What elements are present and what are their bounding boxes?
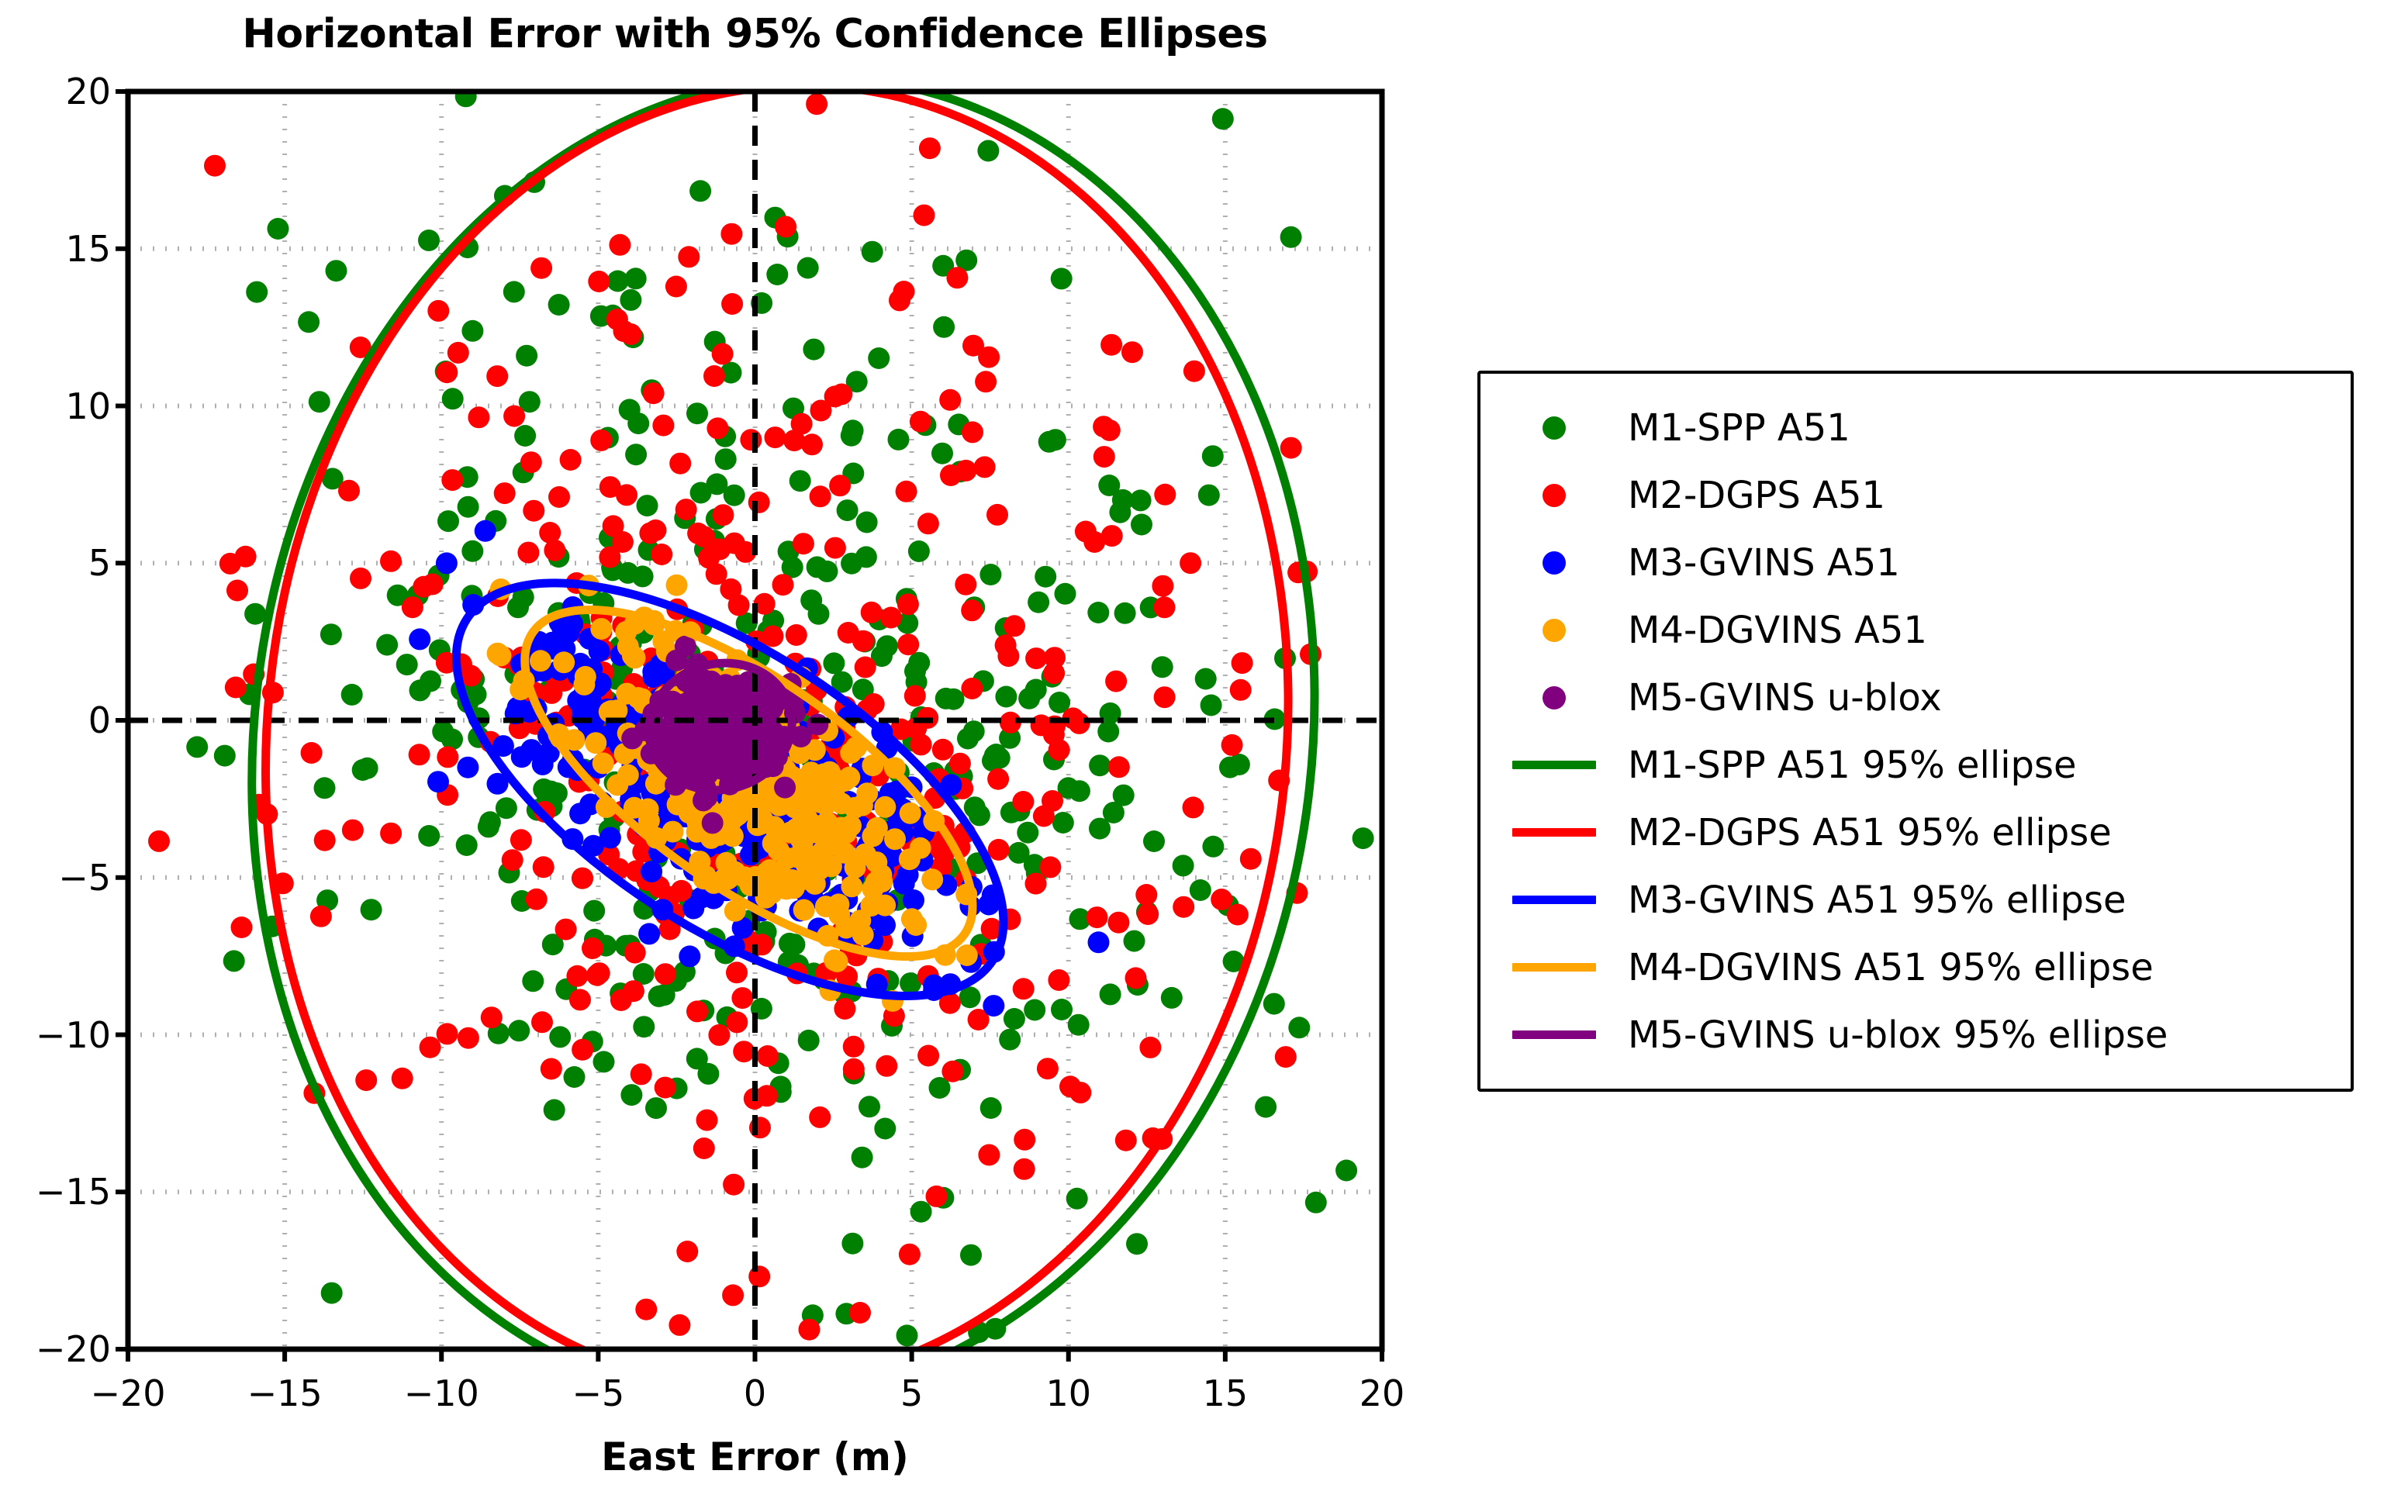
scatter-point [808,603,830,625]
scatter-point [625,444,647,465]
scatter-point [569,989,591,1010]
scatter-point [689,747,711,769]
scatter-point [1202,836,1224,858]
scatter-point [436,361,458,383]
scatter-point [897,593,919,615]
scatter-point [530,257,552,279]
scatter-point [320,623,342,645]
marker-swatch [1543,484,1566,507]
scatter-point [392,1068,413,1089]
scatter-point [1288,1017,1310,1038]
scatter-point [880,607,902,629]
scatter-point [1221,734,1243,756]
scatter-point [859,1096,880,1117]
scatter-point [582,937,603,959]
scatter-point [917,513,939,534]
scatter-point [1108,756,1130,778]
legend-item-label: M1-SPP A51 [1628,409,1850,447]
scatter-point [1083,531,1105,553]
scatter-point [380,551,402,572]
scatter-point [1107,912,1129,934]
scatter-point [728,595,750,616]
scatter-point [1013,978,1035,999]
scatter-point [1183,796,1204,818]
scatter-point [709,539,731,561]
scatter-point [1052,812,1074,834]
legend-item[interactable]: M4-DGVINS A51 95% ellipse [1480,934,2351,1001]
scatter-point [645,1097,667,1119]
scatter-point [794,783,816,805]
scatter-point [1353,827,1374,849]
scatter-point [321,1282,343,1304]
scatter-point [1152,575,1173,597]
scatter-point [926,1186,948,1207]
scatter-point [396,654,418,675]
scatter-point [835,917,857,939]
scatter-point [632,565,654,587]
scatter-point [975,371,997,392]
scatter-point [995,686,1017,708]
scatter-point [486,365,508,387]
scatter-point [834,770,855,792]
scatter-point [1018,688,1040,709]
scatter-point [494,482,516,504]
scatter-point [807,556,828,578]
scatter-point [1051,268,1073,289]
scatter-point [810,485,831,507]
y-tick-label: 15 [65,228,111,270]
scatter-point [999,1029,1021,1051]
scatter-point [226,580,248,602]
scatter-point [204,155,226,177]
scatter-point [837,499,859,521]
scatter-point [441,469,463,491]
scatter-point [962,421,983,443]
scatter-point [613,320,635,342]
scatter-point [696,1110,718,1131]
legend-line-icon [1480,828,1628,837]
scatter-point [1087,906,1108,928]
scatter-point [1198,485,1220,506]
scatter-point [314,830,336,851]
scatter-point [517,542,539,564]
scatter-point [534,780,556,802]
scatter-point [946,267,968,288]
scatter-point [637,495,658,516]
scatter-point [1240,848,1262,870]
scatter-point [1017,822,1038,844]
scatter-point [896,481,917,502]
scatter-point [1068,1014,1090,1036]
figure-canvas: Horizontal Error with 95% Confidence Ell… [0,0,2408,1512]
scatter-point [893,281,915,302]
scatter-point [1048,969,1069,991]
scatter-point [599,827,621,849]
scatter-point [978,1144,1000,1166]
y-tick-label: −5 [58,857,111,899]
legend-item-label: M5-GVINS u-blox [1628,679,1942,716]
scatter-point [931,443,953,464]
scatter-point [409,744,430,765]
scatter-point [1004,1008,1025,1030]
scatter-point [807,713,828,735]
scatter-point [722,825,744,847]
scatter-point [638,923,660,944]
scatter-point [1121,341,1143,363]
scatter-point [1055,583,1076,605]
scatter-point [496,797,517,819]
scatter-point [1014,1158,1035,1180]
scatter-point [544,1099,565,1121]
scatter-point [840,815,862,837]
scatter-point [583,900,605,922]
scatter-point [1135,884,1157,906]
scatter-point [148,830,170,852]
scatter-point [1212,108,1234,129]
scatter-point [575,666,596,688]
scatter-point [712,343,734,364]
scatter-point [980,1097,1002,1119]
scatter-point [624,942,646,964]
scatter-point [413,576,434,598]
scatter-point [933,316,955,338]
scatter-point [560,449,582,471]
scatter-point [841,1233,863,1255]
scatter-point [437,746,458,768]
y-tick-label: −20 [36,1328,111,1370]
scatter-point [863,693,885,715]
scatter-point [1255,1096,1277,1118]
scatter-point [899,848,921,870]
scatter-point [644,520,666,541]
scatter-point [740,429,762,450]
scatter-point [523,500,544,522]
scatter-point [1227,904,1249,926]
legend-item[interactable]: M1-SPP A51 95% ellipse [1480,731,2351,799]
line-swatch [1512,761,1596,769]
scatter-point [651,544,672,565]
scatter-point [458,496,479,518]
scatter-point [635,1299,657,1320]
scatter-point [679,945,700,967]
scatter-point [716,852,738,874]
scatter-point [620,289,641,311]
scatter-point [939,389,961,411]
scatter-point [1139,1037,1161,1058]
scatter-point [977,140,999,162]
scatter-point [231,917,253,938]
scatter-point [874,1118,896,1140]
scatter-point [1143,830,1165,852]
scatter-point [956,944,978,966]
scatter-point [974,456,996,478]
scatter-point [1275,1046,1297,1068]
scatter-point [380,823,402,844]
scatter-point [555,919,577,941]
scatter-point [901,908,923,930]
scatter-point [961,678,983,699]
scatter-point [1033,806,1055,827]
x-tick-label: 0 [744,1372,766,1414]
scatter-point [797,845,819,867]
scatter-point [1124,930,1145,952]
scatter-point [520,451,542,473]
scatter-point [726,1011,748,1033]
scatter-point [1202,445,1224,467]
scatter-point [1280,437,1302,459]
scatter-point [461,320,483,342]
scatter-point [841,553,862,575]
scatter-point [868,347,890,369]
scatter-point [823,652,845,674]
scatter-point [437,1023,458,1044]
scatter-point [852,1147,873,1169]
scatter-point [841,425,862,447]
scatter-point [516,345,537,367]
scatter-point [643,382,665,404]
scatter-point [1180,552,1201,574]
scatter-point [341,684,363,706]
line-swatch [1512,963,1596,972]
line-swatch [1512,1030,1596,1039]
scatter-point [689,180,711,202]
scatter-point [314,777,336,799]
scatter-point [698,692,720,714]
scatter-point [1263,993,1285,1015]
scatter-point [1105,671,1127,692]
scatter-point [766,264,788,285]
scatter-point [1173,896,1194,918]
scatter-point [214,745,236,767]
scatter-point [355,1069,377,1091]
scatter-point [986,504,1008,526]
scatter-point [652,415,674,437]
line-swatch [1512,828,1596,837]
legend-marker-icon [1480,619,1628,642]
scatter-point [420,1037,441,1058]
scatter-point [590,618,612,640]
scatter-point [531,1011,553,1033]
scatter-point [468,406,489,428]
scatter-point [599,547,620,568]
y-tick-label: 0 [88,699,111,741]
scatter-point [669,453,691,475]
scatter-point [1004,615,1025,637]
scatter-point [786,624,807,646]
scatter-point [809,1106,831,1128]
scatter-point [690,482,712,504]
scatter-point [731,987,753,1009]
scatter-point [910,1201,932,1223]
x-axis-title: East Error (m) [128,1434,1382,1479]
scatter-point [522,970,544,992]
scatter-point [1335,1160,1357,1182]
scatter-point [244,603,266,625]
scatter-point [904,661,926,682]
scatter-point [1154,484,1176,506]
scatter-point [865,851,887,873]
scatter-point [1051,999,1073,1020]
scatter-point [988,839,1010,861]
scatter-point [919,137,941,159]
scatter-point [1069,1082,1091,1103]
scatter-point [1066,1188,1088,1210]
scatter-point [740,844,762,866]
scatter-point [599,476,621,498]
scatter-point [655,963,676,985]
scatter-point [987,768,1009,790]
legend-item[interactable]: M2-DGPS A51 95% ellipse [1480,799,2351,866]
scatter-point [997,645,1019,667]
scatter-point [569,803,591,824]
scatter-point [910,411,931,433]
scatter-point [943,689,965,710]
scatter-point [350,568,371,589]
scatter-point [409,628,430,650]
scatter-point [856,512,878,533]
scatter-point [669,1314,690,1336]
scatter-point [665,276,687,298]
scatter-point [1039,856,1061,878]
marker-swatch [1543,686,1566,709]
scatter-point [458,1027,479,1049]
scatter-point [502,849,523,871]
scatter-point [548,294,570,316]
scatter-point [841,875,862,897]
scatter-point [1154,686,1176,708]
scatter-point [631,1063,652,1085]
scatter-point [572,868,593,889]
scatter-point [781,869,803,891]
scatter-point [676,1241,698,1262]
scatter-point [1099,419,1121,441]
legend-item-label: M4-DGVINS A51 [1628,612,1927,649]
scatter-point [748,492,770,513]
scatter-point [899,1244,921,1265]
scatter-point [268,218,289,240]
scatter-point [827,951,848,972]
scatter-point [910,734,932,755]
scatter-point [219,553,241,575]
scatter-point [1008,842,1030,864]
scatter-point [418,825,440,847]
legend-item-label: M4-DGVINS A51 95% ellipse [1628,949,2154,986]
scatter-point [1232,652,1253,674]
scatter-point [1014,1129,1035,1151]
scatter-point [572,1039,593,1061]
scatter-point [1012,791,1034,813]
scatter-point [791,413,813,435]
legend-item[interactable]: M3-GVINS A51 95% ellipse [1480,866,2351,934]
scatter-point [852,795,873,816]
scatter-point [588,271,610,292]
scatter-point [620,1084,642,1106]
scatter-point [539,522,561,544]
scatter-point [1152,656,1173,678]
scatter-point [1093,446,1115,468]
legend-item[interactable]: M5-GVINS u-blox 95% ellipse [1480,1001,2351,1068]
scatter-point [884,828,906,850]
scatter-point [503,281,525,302]
legend-item[interactable]: M1-SPP A51 [1480,394,2351,461]
scatter-point [861,602,883,623]
scatter-point [627,413,649,434]
marker-swatch [1543,416,1566,440]
scatter-point [979,564,1001,585]
scatter-point [526,889,548,910]
scatter-point [834,998,855,1020]
legend-item[interactable]: M2-DGPS A51 [1480,461,2351,529]
scatter-point [783,934,805,955]
x-tick-label: −15 [247,1372,323,1414]
scatter-point [712,504,734,526]
x-tick-label: −10 [404,1372,479,1414]
scatter-point [461,540,483,562]
scatter-point [533,856,554,878]
legend-item[interactable]: M3-GVINS A51 [1480,529,2351,596]
scatter-point [1137,903,1159,925]
scatter-point [941,1061,963,1082]
legend-item[interactable]: M5-GVINS u-blox [1480,664,2351,731]
scatter-point [921,868,943,890]
chart-legend[interactable]: M1-SPP A51M2-DGPS A51M3-GVINS A51M4-DGVI… [1477,371,2354,1092]
scatter-point [671,880,693,902]
scatter-point [693,1137,715,1159]
scatter-point [1211,889,1232,910]
scatter-point [1280,226,1302,248]
scatter-point [309,391,330,413]
scatter-point [457,757,478,778]
scatter-point [607,271,629,292]
scatter-point [862,878,884,899]
scatter-point [310,906,332,927]
scatter-point [530,650,551,671]
scatter-point [633,1016,655,1037]
scatter-point [983,995,1004,1017]
scatter-point [1043,662,1065,684]
scatter-point [186,736,208,758]
legend-item-label: M3-GVINS A51 [1628,544,1900,582]
scatter-point [548,486,570,508]
scatter-point [622,645,644,667]
legend-item[interactable]: M4-DGVINS A51 [1480,596,2351,664]
scatter-point [708,1024,730,1046]
scatter-point [888,429,910,450]
marker-swatch [1543,551,1566,575]
scatter-point [1126,1233,1148,1255]
scatter-point [1088,931,1110,953]
legend-line-icon [1480,896,1628,904]
x-tick-label: −20 [90,1372,165,1414]
scatter-point [1100,334,1122,356]
scatter-point [1028,592,1049,613]
scatter-point [917,1045,939,1067]
scatter-point [437,510,459,532]
scatter-point [1183,361,1205,382]
scatter-point [402,596,423,618]
legend-marker-icon [1480,416,1628,440]
scatter-point [564,1066,586,1088]
scatter-point [793,533,814,554]
legend-line-icon [1480,1030,1628,1039]
scatter-point [852,630,874,652]
scatter-point [606,774,628,796]
scatter-point [960,1244,982,1266]
scatter-point [514,425,536,447]
scatter-point [475,520,496,542]
scatter-point [376,634,398,656]
marker-swatch [1543,619,1566,642]
